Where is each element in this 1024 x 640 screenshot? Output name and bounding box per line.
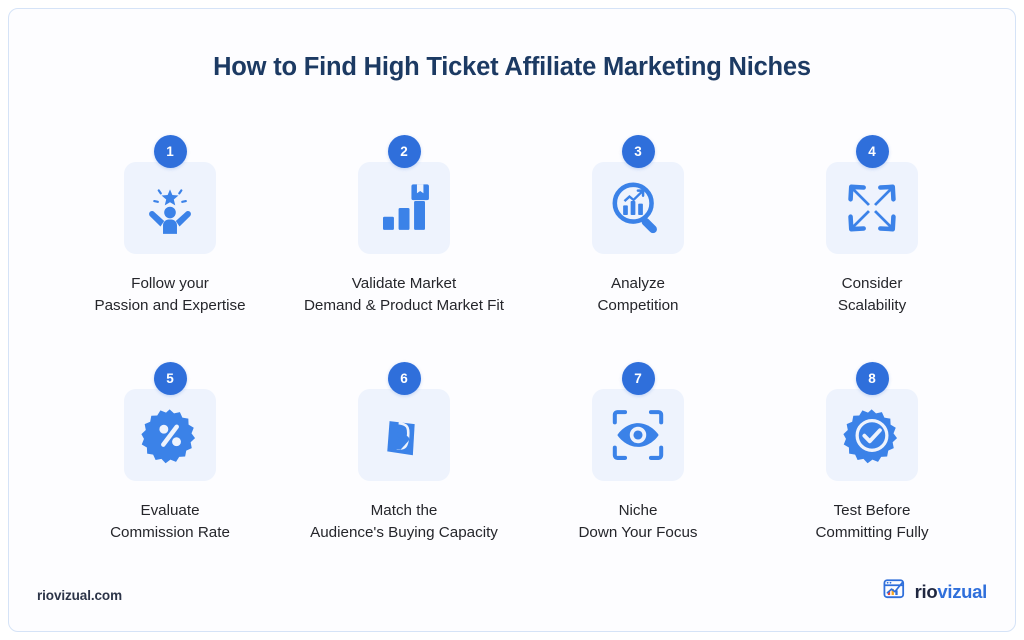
step-icon-tile-1 [124, 162, 216, 254]
step-item-7: 7 [521, 362, 755, 589]
page-title: How to Find High Ticket Affiliate Market… [9, 53, 1015, 82]
step-label-4: Consider Scalability [838, 273, 906, 317]
step-item-6[interactable]: 6 Match the Audience's Buying Capacity [287, 362, 521, 589]
step-icon-tile-4 [826, 162, 918, 254]
step-icon-tile-8 [826, 389, 918, 481]
brand-name-first: rio [915, 581, 938, 602]
step-label-2: Validate Market Demand & Product Market … [304, 273, 504, 317]
step-icon-tile-2 [358, 162, 450, 254]
infographic-frame: How to Find High Ticket Affiliate Market… [0, 0, 1024, 640]
riovizual-chart-window-logo [883, 577, 908, 607]
step-label-6: Match the Audience's Buying Capacity [310, 500, 498, 544]
brand-name: riovizual [915, 583, 987, 602]
magnifier-growth-chart-icon [610, 180, 666, 236]
step-number-badge-4: 4 [856, 135, 889, 168]
step-number-badge-7: 7 [622, 362, 655, 395]
step-item-4[interactable]: 4 Consider Scalability [755, 135, 989, 362]
step-item-2[interactable]: 2 Validate Market Demand & Product Marke… [287, 135, 521, 362]
step-number-badge-5: 5 [154, 362, 187, 395]
step-label-8: Test Before Committing Fully [815, 500, 928, 544]
step-item-8[interactable]: 8 Test Before Committing Fully [755, 362, 989, 589]
step-item-5[interactable]: 5 Evaluate Commission Rate [53, 362, 287, 589]
step-icon-tile-7 [592, 389, 684, 481]
person-celebrating-star-icon [141, 179, 199, 237]
step-number-badge-2: 2 [388, 135, 421, 168]
step-label-3: Analyze Competition [597, 273, 678, 317]
percent-badge-icon [141, 406, 199, 464]
eye-focus-frame-icon [610, 407, 666, 463]
four-arrows-expand-icon [844, 180, 900, 236]
step-label-7: Niche Down Your Focus [578, 500, 697, 544]
footer-website-url[interactable]: riovizual.com [37, 588, 122, 603]
step-item-3[interactable]: 3 [521, 135, 755, 362]
step-label-1: Follow your Passion and Expertise [94, 273, 245, 317]
brand-logo[interactable]: riovizual [883, 577, 987, 607]
step-number-badge-3: 3 [622, 135, 655, 168]
brand-name-second: vizual [937, 581, 987, 602]
step-icon-tile-5 [124, 389, 216, 481]
verified-check-badge-icon [843, 406, 901, 464]
step-number-badge-6: 6 [388, 362, 421, 395]
step-number-badge-1: 1 [154, 135, 187, 168]
step-item-1[interactable]: 1 [53, 135, 287, 362]
step-icon-tile-3 [592, 162, 684, 254]
hand-holding-cash-icon [376, 407, 432, 463]
bar-chart-product-box-icon [376, 180, 432, 236]
step-number-badge-8: 8 [856, 362, 889, 395]
steps-grid: 1 [53, 135, 989, 589]
infographic-canvas: How to Find High Ticket Affiliate Market… [8, 8, 1016, 632]
step-icon-tile-6 [358, 389, 450, 481]
step-label-5: Evaluate Commission Rate [110, 500, 230, 544]
